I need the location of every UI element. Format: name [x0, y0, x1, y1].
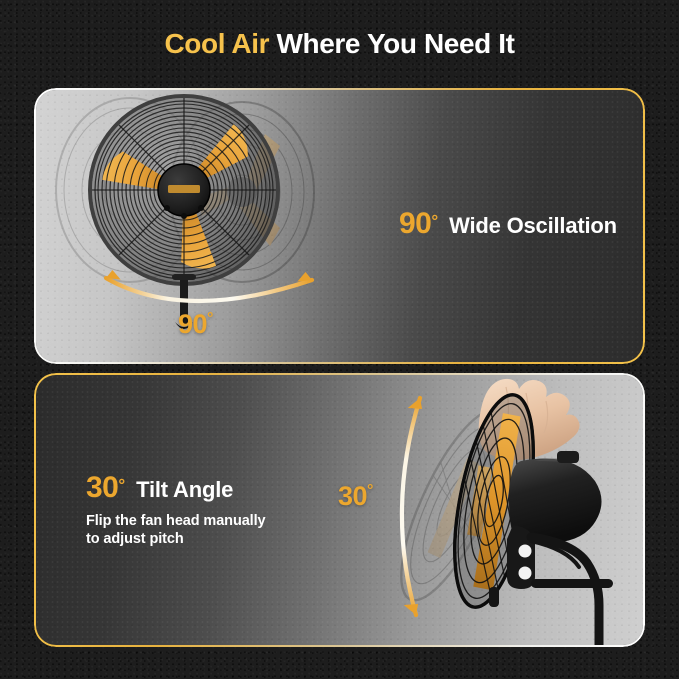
oscillation-arc-degrees: 90 — [178, 309, 207, 339]
panel-oscillation: 90° 90° Wide Oscillation — [34, 88, 645, 364]
tilt-arc-degrees: 30 — [338, 481, 367, 511]
page-title: Cool Air Where You Need It — [0, 28, 679, 60]
page-title-rest: Where You Need It — [277, 28, 515, 59]
oscillation-callout: 90° Wide Oscillation — [399, 207, 617, 241]
oscillation-callout-degree-symbol: ° — [431, 212, 437, 231]
oscillation-arc-label: 90° — [178, 309, 213, 340]
panel-oscillation-content: 90° 90° Wide Oscillation — [34, 88, 645, 364]
tilt-arc-label: 30° — [338, 481, 373, 512]
tilt-arc-degree-symbol: ° — [367, 482, 373, 499]
panel-tilt: 30° Tilt Angle Flip the fan head manuall… — [34, 373, 645, 647]
oscillation-arc-degree-symbol: ° — [207, 310, 213, 327]
infographic-canvas: Cool Air Where You Need It — [0, 0, 679, 679]
oscillation-arc-line — [106, 278, 312, 301]
oscillation-callout-degrees: 90 — [399, 207, 431, 240]
oscillation-callout-label: Wide Oscillation — [449, 213, 617, 238]
page-title-highlight: Cool Air — [164, 28, 269, 59]
panel-tilt-content: 30° Tilt Angle Flip the fan head manuall… — [34, 373, 645, 647]
tilt-arc-line — [402, 398, 420, 615]
